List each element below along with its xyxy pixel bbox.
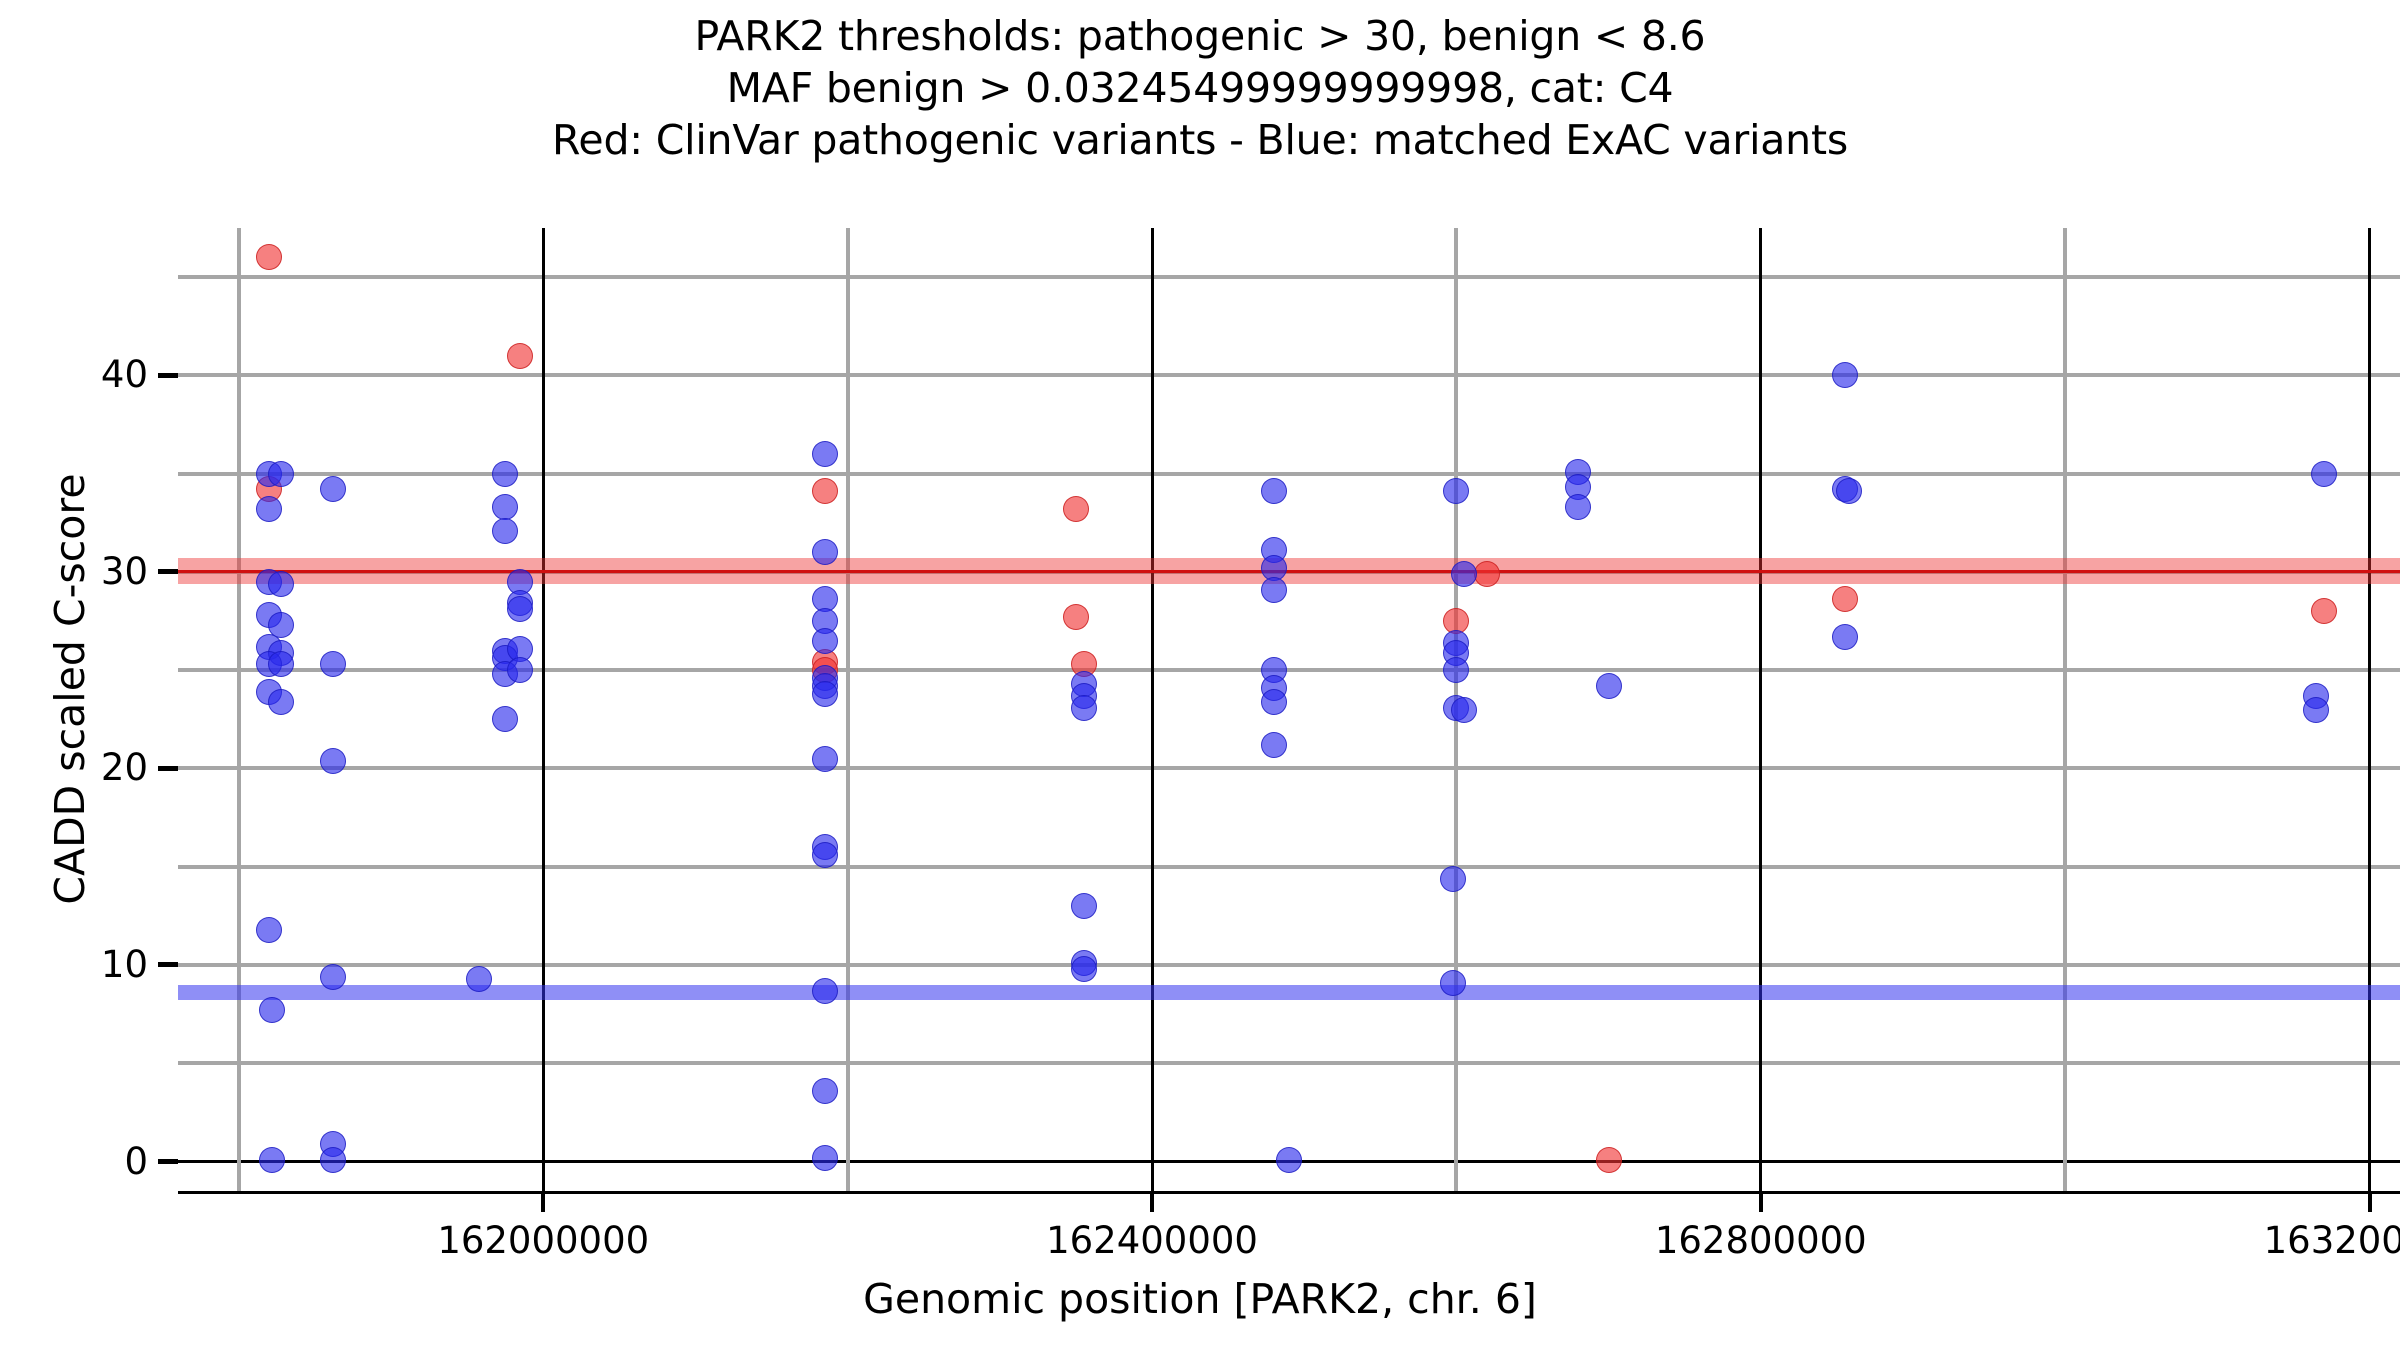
x-tick-162400000 <box>1150 1194 1154 1212</box>
data-point-benign <box>1261 732 1287 758</box>
data-point-pathogenic <box>256 244 282 270</box>
data-point-benign <box>1261 689 1287 715</box>
chart-root: PARK2 thresholds: pathogenic > 30, benig… <box>0 0 2400 1350</box>
data-point-benign <box>1451 561 1477 587</box>
gridline-x-162000000 <box>542 228 545 1191</box>
chart-title: PARK2 thresholds: pathogenic > 30, benig… <box>0 10 2400 166</box>
x-tick-label-163200000: 163200000 <box>2264 1222 2400 1259</box>
data-point-benign <box>1261 478 1287 504</box>
x-tick-163200000 <box>2368 1194 2372 1212</box>
y-tick-40 <box>158 373 178 378</box>
data-point-pathogenic <box>812 478 838 504</box>
data-point-benign <box>812 681 838 707</box>
data-point-benign <box>1836 478 1862 504</box>
data-point-benign <box>1451 697 1477 723</box>
y-tick-30 <box>158 569 178 574</box>
data-point-benign <box>268 571 294 597</box>
data-point-benign <box>812 539 838 565</box>
data-point-benign <box>259 997 285 1023</box>
data-point-pathogenic <box>1474 561 1500 587</box>
data-point-benign <box>268 689 294 715</box>
title-line-1: PARK2 thresholds: pathogenic > 30, benig… <box>0 10 2400 62</box>
data-point-benign <box>320 748 346 774</box>
data-point-pathogenic <box>1063 496 1089 522</box>
data-point-benign <box>812 978 838 1004</box>
data-point-benign <box>466 966 492 992</box>
data-point-benign <box>268 651 294 677</box>
data-point-benign <box>2311 461 2337 487</box>
data-point-benign <box>1071 695 1097 721</box>
y-axis-label: CADD scaled C-score <box>46 309 94 1069</box>
x-tick-label-162400000: 162400000 <box>1046 1222 1258 1259</box>
x-axis-label: Genomic position [PARK2, chr. 6] <box>0 1275 2400 1323</box>
data-point-benign <box>320 651 346 677</box>
data-point-benign <box>1565 494 1591 520</box>
data-point-pathogenic <box>2311 598 2337 624</box>
data-point-benign <box>1261 577 1287 603</box>
data-point-benign <box>812 842 838 868</box>
gridline-x-162800000 <box>1759 228 1762 1191</box>
threshold-band-benign <box>178 985 2400 1001</box>
data-point-benign <box>507 657 533 683</box>
y-tick-10 <box>158 962 178 967</box>
data-point-benign <box>1832 362 1858 388</box>
y-tick-label-0: 0 <box>60 1143 148 1180</box>
data-point-benign <box>1440 866 1466 892</box>
gridline-x-minor-162200000 <box>846 228 850 1191</box>
data-point-benign <box>492 518 518 544</box>
title-line-3: Red: ClinVar pathogenic variants - Blue:… <box>0 114 2400 166</box>
title-line-2: MAF benign > 0.03245499999999998, cat: C… <box>0 62 2400 114</box>
data-point-benign <box>812 628 838 654</box>
gridline-x-163200000 <box>2368 228 2371 1191</box>
data-point-benign <box>2303 697 2329 723</box>
data-point-benign <box>492 494 518 520</box>
data-point-benign <box>1443 657 1469 683</box>
data-point-benign <box>492 461 518 487</box>
data-point-pathogenic <box>1063 604 1089 630</box>
data-point-benign <box>256 496 282 522</box>
data-point-benign <box>259 1147 285 1173</box>
y-tick-20 <box>158 766 178 771</box>
x-tick-label-162800000: 162800000 <box>1655 1222 1867 1259</box>
data-point-benign <box>812 1145 838 1171</box>
gridline-x-minor-161800000 <box>237 228 241 1191</box>
data-point-pathogenic <box>507 343 533 369</box>
data-point-benign <box>507 596 533 622</box>
x-tick-162000000 <box>541 1194 545 1212</box>
x-tick-label-162000000: 162000000 <box>437 1222 649 1259</box>
data-point-benign <box>320 964 346 990</box>
data-point-benign <box>1276 1147 1302 1173</box>
data-point-benign <box>1071 956 1097 982</box>
data-point-benign <box>812 746 838 772</box>
data-point-benign <box>1832 624 1858 650</box>
gridline-x-162400000 <box>1151 228 1154 1191</box>
data-point-benign <box>320 476 346 502</box>
data-point-benign <box>1071 893 1097 919</box>
plot-area <box>178 228 2400 1191</box>
y-tick-0 <box>158 1159 178 1164</box>
data-point-benign <box>812 1078 838 1104</box>
data-point-benign <box>1596 673 1622 699</box>
data-point-benign <box>268 461 294 487</box>
data-point-pathogenic <box>1832 586 1858 612</box>
data-point-benign <box>812 441 838 467</box>
data-point-benign <box>256 917 282 943</box>
x-axis-line <box>178 1191 2400 1194</box>
data-point-benign <box>492 706 518 732</box>
data-point-benign <box>1443 478 1469 504</box>
data-point-benign <box>1440 970 1466 996</box>
gridline-x-minor-163000000 <box>2063 228 2067 1191</box>
x-tick-162800000 <box>1759 1194 1763 1212</box>
data-point-pathogenic <box>1596 1147 1622 1173</box>
data-point-benign <box>320 1147 346 1173</box>
